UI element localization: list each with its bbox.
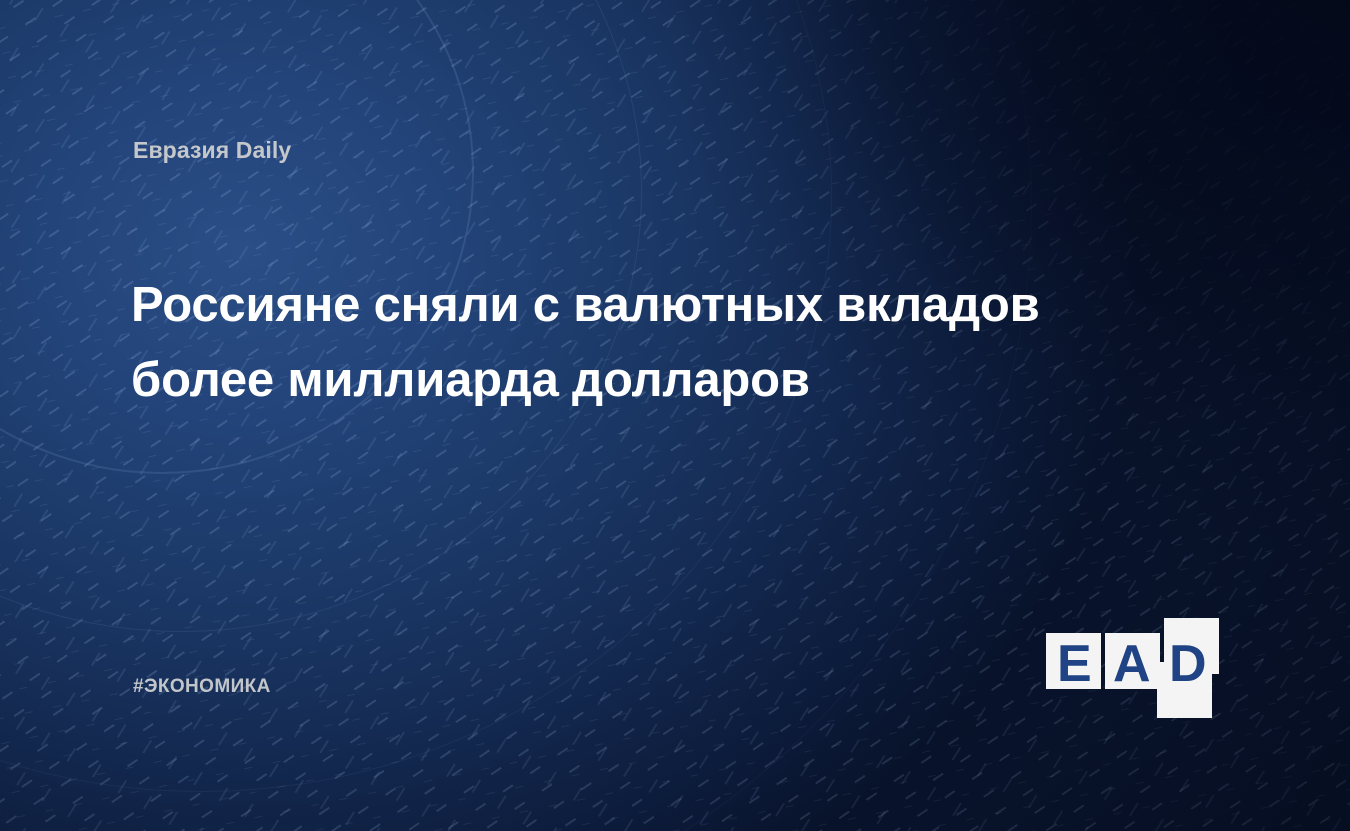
news-share-card: Евразия Daily Россияне сняли с валютных … — [0, 0, 1350, 831]
ead-letter-a: A — [1113, 638, 1151, 689]
ead-brand-logo[interactable]: E A D D — [1046, 618, 1221, 720]
ead-letter-e: E — [1057, 638, 1092, 689]
card-content: Евразия Daily Россияне сняли с валютных … — [0, 0, 1350, 831]
page-title: Россияне сняли с валютных вкладов более … — [131, 268, 1091, 418]
category-tag[interactable]: #ЭКОНОМИКА — [133, 676, 271, 698]
ead-tile-a: A — [1105, 633, 1160, 689]
site-logo-text[interactable]: Евразия Daily — [133, 137, 291, 164]
ead-tile-e: E — [1046, 633, 1101, 689]
ead-letter-d-lower: D — [1169, 662, 1207, 690]
ead-tile-d-bottom: D — [1157, 662, 1212, 718]
